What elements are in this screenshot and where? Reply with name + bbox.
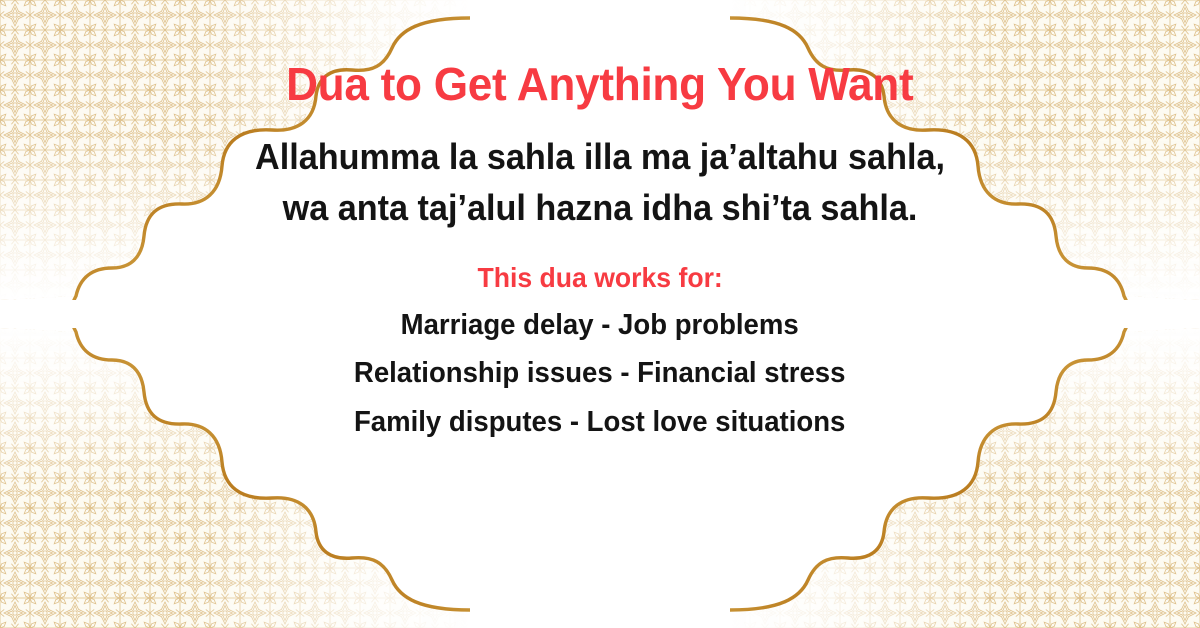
page-title: Dua to Get Anything You Want [286, 0, 913, 109]
works-for-heading: This dua works for: [477, 233, 722, 295]
list-item: Relationship issues - Financial stress [354, 349, 845, 398]
works-for-list: Marriage delay - Job problems Relationsh… [341, 295, 858, 447]
list-item: Family disputes - Lost love situations [354, 398, 845, 447]
dua-card: Dua to Get Anything You Want Allahumma l… [0, 0, 1200, 628]
list-item: Marriage delay - Job problems [354, 301, 845, 350]
card-content: Dua to Get Anything You Want Allahumma l… [0, 0, 1200, 628]
dua-transliteration-text: Allahumma la sahla illa ma ja’altahu sah… [234, 109, 966, 233]
